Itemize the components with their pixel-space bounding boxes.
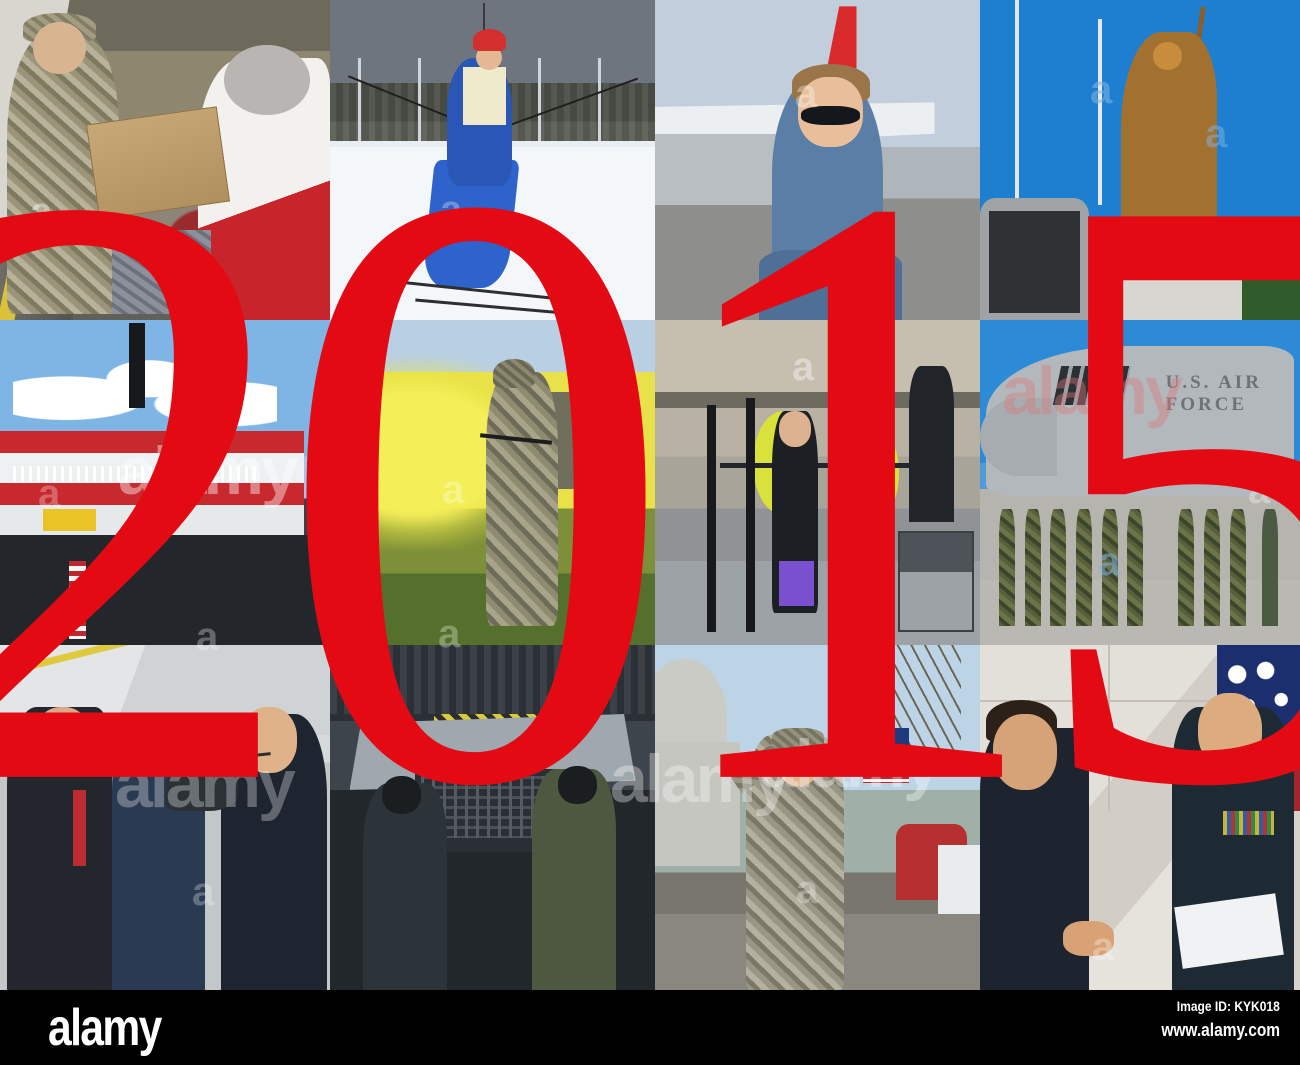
soldier-body	[486, 372, 558, 626]
image-id-label: Image ID: KYK018	[1177, 998, 1280, 1014]
capitol-building	[655, 742, 740, 866]
memorial-wall	[980, 198, 1089, 320]
photo-powerlifting	[655, 320, 980, 645]
soldier-face	[779, 742, 818, 787]
governor-face	[993, 714, 1057, 790]
troop-figure	[1050, 509, 1066, 626]
helicopter-model	[165, 769, 238, 810]
flagpole-1	[1015, 0, 1019, 205]
collage-cell-7	[655, 320, 980, 645]
flag-pylon	[69, 561, 86, 639]
ribbon-rack	[1223, 811, 1274, 835]
photo-handshake-ceremony	[0, 645, 330, 990]
troop-figure	[1127, 509, 1143, 626]
screenshot-root: U.S. AIR FORCE	[0, 0, 1300, 1065]
headset-right	[558, 766, 597, 804]
collage-cell-12	[980, 645, 1300, 990]
official-left-head	[33, 707, 92, 776]
troop-figure	[1204, 509, 1220, 626]
photo-collage-grid: U.S. AIR FORCE	[0, 0, 1300, 990]
volunteer-hair	[224, 45, 310, 115]
soldier-head	[33, 22, 86, 73]
red-necktie	[73, 790, 86, 866]
statue-face	[1153, 42, 1182, 71]
pilot-left	[363, 783, 448, 990]
folding-chair	[898, 531, 974, 633]
photo-governor-general-handshake	[980, 645, 1300, 990]
photo-soldier-yellow-smoke	[330, 320, 655, 645]
sunglasses-icon	[801, 106, 860, 125]
alamy-footer-bar: alamy Image ID: KYK018 www.alamy.com	[0, 990, 1300, 1065]
photo-c130-troops: U.S. AIR FORCE	[980, 320, 1300, 645]
aircraft-nose	[980, 398, 1057, 476]
plaid-blanket	[112, 230, 211, 313]
photo-cockpit	[330, 645, 655, 990]
boat-banner	[43, 509, 96, 532]
collage-cell-2	[330, 0, 655, 320]
combat-helmet	[493, 359, 535, 388]
photo-daniel-boone-statue	[980, 0, 1300, 320]
overhead-panel	[330, 645, 655, 714]
handshake	[1063, 921, 1114, 956]
flagpole-2	[1098, 19, 1102, 205]
photo-saluting-soldier	[655, 645, 980, 990]
collage-cell-5	[0, 320, 330, 645]
collage-cell-10	[330, 645, 655, 990]
troop-figure	[999, 509, 1015, 626]
troop-figure	[1102, 509, 1118, 626]
photo-biathlon-skier	[330, 0, 655, 320]
purple-shorts	[779, 561, 815, 607]
white-van	[938, 845, 980, 914]
collage-cell-11	[655, 645, 980, 990]
troop-figure	[1230, 509, 1246, 626]
bumper-plate-2	[844, 424, 899, 522]
collage-cell-9	[0, 645, 330, 990]
official-right-head	[241, 707, 297, 773]
ski-right	[415, 299, 610, 319]
troop-figure	[1262, 509, 1278, 626]
marble-seam	[1108, 645, 1110, 811]
collage-cell-1	[0, 0, 330, 320]
headset-left	[382, 776, 421, 814]
collage-cell-3	[655, 0, 980, 320]
collage-cell-8: U.S. AIR FORCE	[980, 320, 1300, 645]
squat-rack-post-1	[707, 405, 716, 633]
smokestack-2	[205, 349, 222, 414]
skier-hat	[473, 29, 506, 51]
lifter-head	[779, 411, 812, 447]
collage-cell-4	[980, 0, 1300, 320]
alamy-url: www.alamy.com	[1161, 1020, 1280, 1041]
photo-relief-box-handoff	[0, 0, 330, 320]
deck-railing	[13, 466, 257, 482]
statue-pedestal	[1102, 269, 1256, 320]
general-face	[1198, 693, 1262, 769]
spectator-figure	[909, 366, 955, 522]
photo-riverboat	[0, 320, 330, 645]
air-force-markings: U.S. AIR FORCE	[1166, 372, 1300, 416]
troop-figure	[1178, 509, 1194, 626]
squat-rack-post-2	[746, 398, 755, 632]
clouds	[13, 340, 277, 438]
flag-canton	[889, 728, 909, 752]
smokestack-1	[129, 323, 146, 408]
tree-foliage	[1242, 230, 1300, 320]
alamy-logo: alamy	[48, 998, 161, 1058]
patrol-cap	[772, 728, 824, 749]
cockpit-windows	[1053, 366, 1132, 405]
collage-cell-6	[330, 320, 655, 645]
cardboard-box	[86, 106, 230, 219]
troop-figure	[1076, 509, 1092, 626]
photo-boy-with-f16	[655, 0, 980, 320]
crossed-arms	[759, 250, 902, 320]
dock-platform	[0, 535, 330, 646]
race-bib	[463, 67, 505, 125]
troop-figure	[1025, 509, 1041, 626]
